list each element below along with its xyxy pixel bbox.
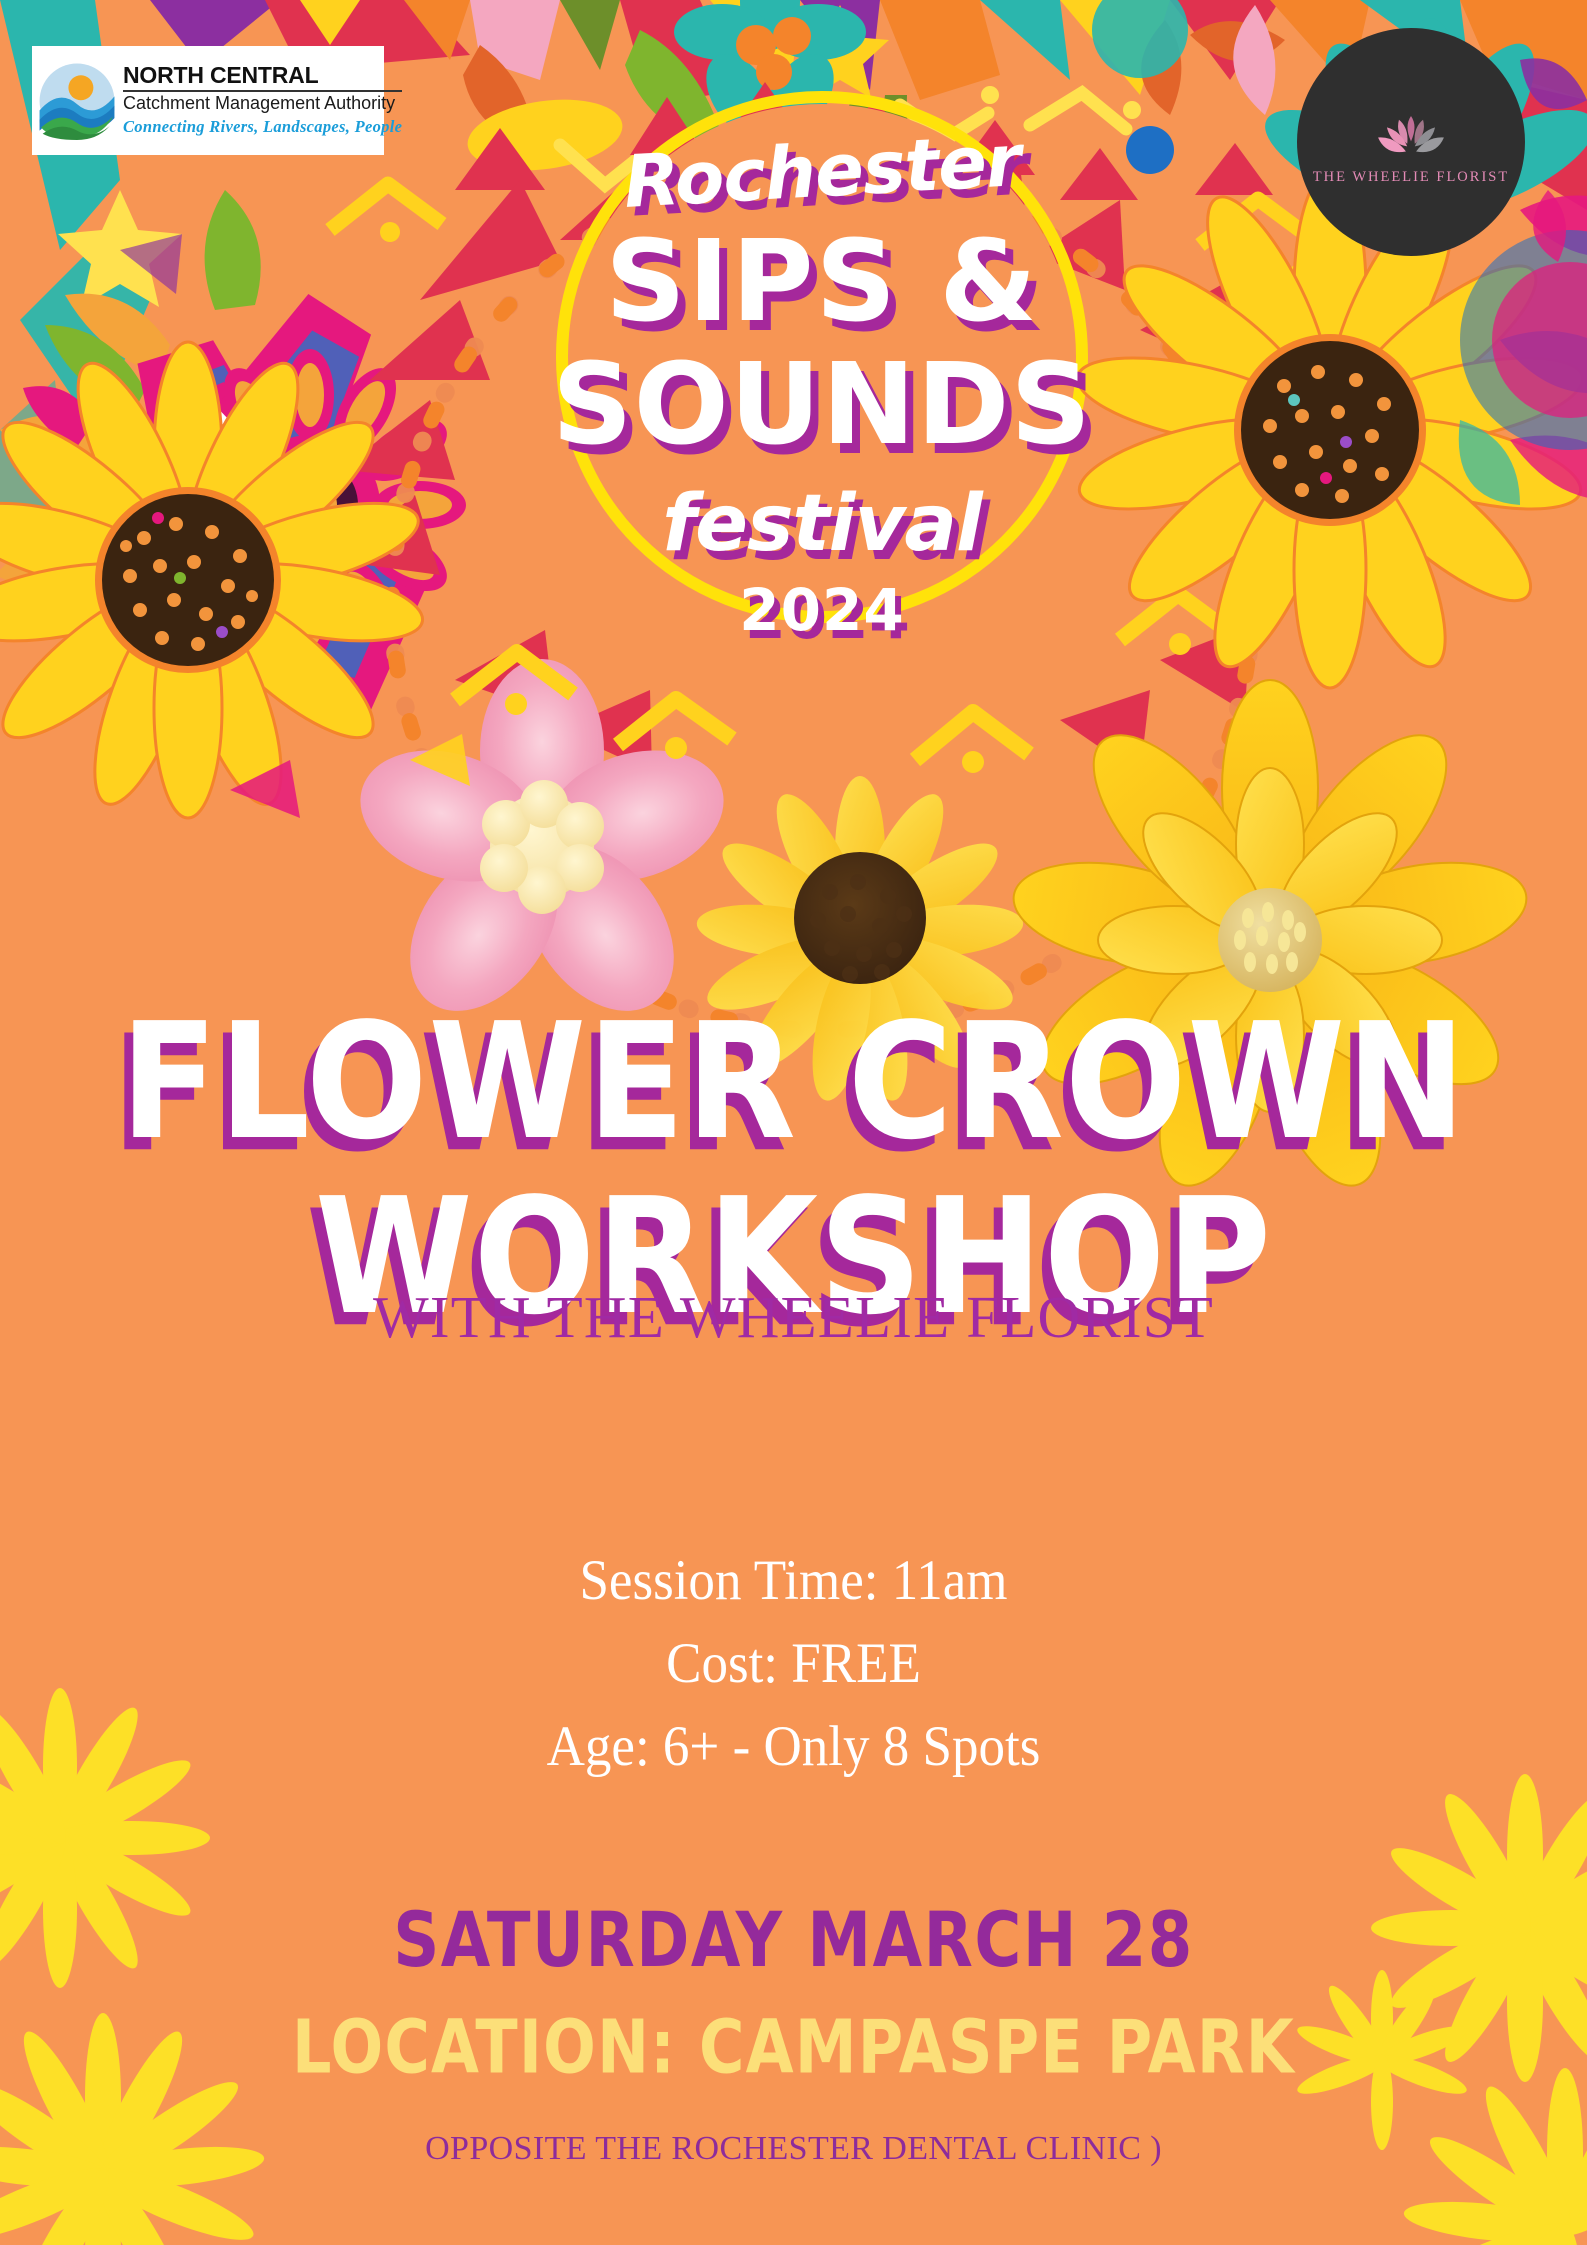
north-central-cma-logo: NORTH CENTRAL Catchment Management Autho… xyxy=(32,46,384,155)
session-details: Session Time: 11am Cost: FREE Age: 6+ - … xyxy=(0,1552,1587,1801)
detail-age-spots: Age: 6+ - Only 8 Spots xyxy=(56,1718,1532,1775)
headline-line-1: FLOWER CROWN xyxy=(0,1007,1587,1156)
badge-line-rochester: Rochester xyxy=(510,112,1134,230)
lotus-flower-icon xyxy=(1373,112,1449,158)
detail-cost: Cost: FREE xyxy=(56,1635,1532,1692)
detail-session-time: Session Time: 11am xyxy=(56,1552,1532,1609)
festival-poster: NORTH CENTRAL Catchment Management Autho… xyxy=(0,0,1587,2245)
badge-line-year: 2024 xyxy=(512,576,1132,644)
nccma-subtitle: Catchment Management Authority xyxy=(123,94,402,113)
page-title: FLOWER CROWN WORKSHOP xyxy=(0,1015,1587,1323)
event-date: SATURDAY MARCH 28 xyxy=(0,1897,1587,1984)
headline-subtitle: WITH THE WHEELIE FLORIST xyxy=(0,1283,1587,1352)
location-note: OPPOSITE THE ROCHESTER DENTAL CLINIC ) xyxy=(0,2130,1587,2168)
badge-line-sips: SIPS & xyxy=(512,217,1132,347)
festival-badge-text: Rochester SIPS & SOUNDS festival 2024 xyxy=(512,107,1132,607)
event-location: LOCATION: CAMPASPE PARK xyxy=(0,2003,1587,2091)
badge-line-festival: festival xyxy=(512,479,1132,569)
florist-name-label: THE WHEELIE FLORIST xyxy=(1313,169,1509,186)
nccma-title: NORTH CENTRAL xyxy=(123,64,402,87)
nccma-tagline: Connecting Rivers, Landscapes, People xyxy=(123,117,402,137)
nccma-text-block: NORTH CENTRAL Catchment Management Autho… xyxy=(123,64,402,136)
badge-line-sounds: SOUNDS xyxy=(512,340,1132,470)
nccma-divider xyxy=(123,90,402,92)
the-wheelie-florist-logo: THE WHEELIE FLORIST xyxy=(1297,28,1525,256)
river-landscape-sun-icon xyxy=(38,62,116,140)
